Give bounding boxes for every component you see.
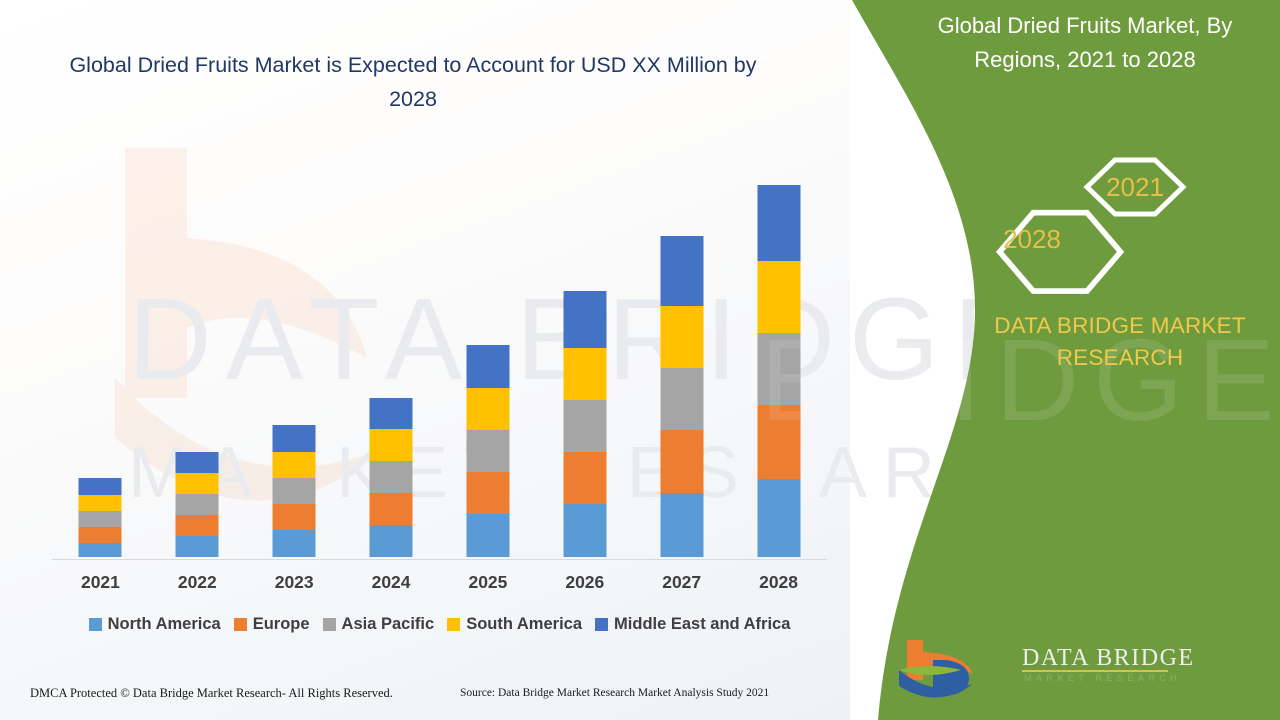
bar-segment[interactable]	[563, 400, 606, 452]
bar-segment[interactable]	[273, 504, 316, 530]
bar-segment[interactable]	[370, 398, 413, 429]
bar-segment[interactable]	[370, 429, 413, 461]
legend-item[interactable]: Europe	[234, 615, 310, 634]
stacked-bar[interactable]	[660, 236, 703, 557]
bar-segment[interactable]	[370, 525, 413, 557]
legend-item[interactable]: Asia Pacific	[323, 615, 435, 634]
hexagon-badges: 2028 2021	[975, 140, 1195, 300]
bar-column	[440, 140, 537, 557]
bar-column	[633, 140, 730, 557]
hexagon-2028-label: 2028	[1003, 224, 1061, 254]
legend-item[interactable]: Middle East and Africa	[595, 615, 790, 634]
bar-segment[interactable]	[79, 527, 122, 543]
footer-source: Source: Data Bridge Market Research Mark…	[460, 687, 769, 699]
bar-segment[interactable]	[79, 495, 122, 511]
bar-column	[149, 140, 246, 557]
bar-segment[interactable]	[466, 514, 509, 557]
legend-swatch-icon	[323, 618, 336, 631]
bar-segment[interactable]	[757, 479, 800, 557]
hexagon-2021-label: 2021	[1106, 172, 1164, 202]
bar-segment[interactable]	[176, 536, 219, 557]
legend-swatch-icon	[447, 618, 460, 631]
stacked-bar[interactable]	[370, 398, 413, 557]
bar-segment[interactable]	[660, 236, 703, 306]
bar-segment[interactable]	[757, 333, 800, 405]
stacked-bar[interactable]	[176, 452, 219, 557]
chart-legend: North AmericaEuropeAsia PacificSouth Ame…	[52, 615, 827, 634]
bar-segment[interactable]	[273, 452, 316, 478]
bar-segment[interactable]	[757, 185, 800, 261]
bar-segment[interactable]	[466, 472, 509, 514]
logo-wordmark: DATA BRIDGE	[1022, 645, 1195, 672]
logo-tagline: MARKET RESEARCH	[1024, 673, 1181, 683]
bar-segment[interactable]	[273, 425, 316, 452]
stacked-bar[interactable]	[79, 478, 122, 557]
bar-column	[343, 140, 440, 557]
bar-segment[interactable]	[466, 388, 509, 430]
stacked-bar[interactable]	[563, 291, 606, 557]
bar-segment[interactable]	[466, 345, 509, 388]
bar-column	[52, 140, 149, 557]
bar-segment[interactable]	[660, 306, 703, 368]
bar-segment[interactable]	[79, 478, 122, 495]
x-axis-label: 2028	[730, 572, 827, 593]
bar-segment[interactable]	[466, 430, 509, 472]
footer: DMCA Protected © Data Bridge Market Rese…	[0, 683, 850, 720]
bar-segment[interactable]	[660, 368, 703, 430]
bar-segment[interactable]	[79, 543, 122, 557]
x-axis-label: 2025	[440, 572, 537, 593]
legend-label: South America	[466, 615, 582, 634]
x-axis-label: 2022	[149, 572, 246, 593]
x-axis-line	[52, 559, 827, 560]
stacked-bar[interactable]	[757, 185, 800, 557]
panel-title: Global Dried Fruits Market, By Regions, …	[905, 9, 1265, 77]
legend-swatch-icon	[234, 618, 247, 631]
bar-group	[52, 140, 827, 557]
bar-segment[interactable]	[660, 493, 703, 557]
bar-segment[interactable]	[176, 452, 219, 473]
bar-column	[730, 140, 827, 557]
bar-segment[interactable]	[273, 530, 316, 557]
x-axis-label: 2027	[633, 572, 730, 593]
bar-segment[interactable]	[757, 405, 800, 479]
brand-name: DATA BRIDGE MARKET RESEARCH	[960, 310, 1280, 374]
bar-segment[interactable]	[176, 515, 219, 536]
bar-segment[interactable]	[563, 452, 606, 504]
stacked-bar[interactable]	[466, 345, 509, 557]
x-axis-label: 2021	[52, 572, 149, 593]
bar-segment[interactable]	[273, 478, 316, 504]
bar-segment[interactable]	[563, 504, 606, 557]
bar-segment[interactable]	[79, 511, 122, 527]
footer-copyright: DMCA Protected © Data Bridge Market Rese…	[30, 686, 393, 701]
legend-label: Europe	[253, 615, 310, 634]
bar-segment[interactable]	[370, 493, 413, 525]
bar-segment[interactable]	[563, 348, 606, 400]
bar-segment[interactable]	[176, 473, 219, 494]
x-axis-labels: 20212022202320242025202620272028	[52, 572, 827, 593]
bar-segment[interactable]	[757, 261, 800, 333]
x-axis-label: 2026	[536, 572, 633, 593]
legend-item[interactable]: South America	[447, 615, 582, 634]
legend-swatch-icon	[89, 618, 102, 631]
legend-label: Middle East and Africa	[614, 615, 790, 634]
legend-label: Asia Pacific	[342, 615, 435, 634]
bar-segment[interactable]	[176, 494, 219, 515]
bar-column	[536, 140, 633, 557]
bar-segment[interactable]	[563, 291, 606, 348]
legend-swatch-icon	[595, 618, 608, 631]
x-axis-label: 2023	[246, 572, 343, 593]
x-axis-label: 2024	[343, 572, 440, 593]
legend-label: North America	[108, 615, 221, 634]
legend-item[interactable]: North America	[89, 615, 221, 634]
bar-segment[interactable]	[660, 430, 703, 493]
chart-title: Global Dried Fruits Market is Expected t…	[60, 48, 766, 116]
plot-area	[52, 140, 827, 560]
bar-segment[interactable]	[370, 461, 413, 493]
logo-divider	[1022, 670, 1168, 672]
bar-column	[246, 140, 343, 557]
infographic-canvas: DATA BRIDGE MARKET RESEARCH Global Dried…	[0, 0, 1280, 720]
stacked-bar[interactable]	[273, 425, 316, 557]
